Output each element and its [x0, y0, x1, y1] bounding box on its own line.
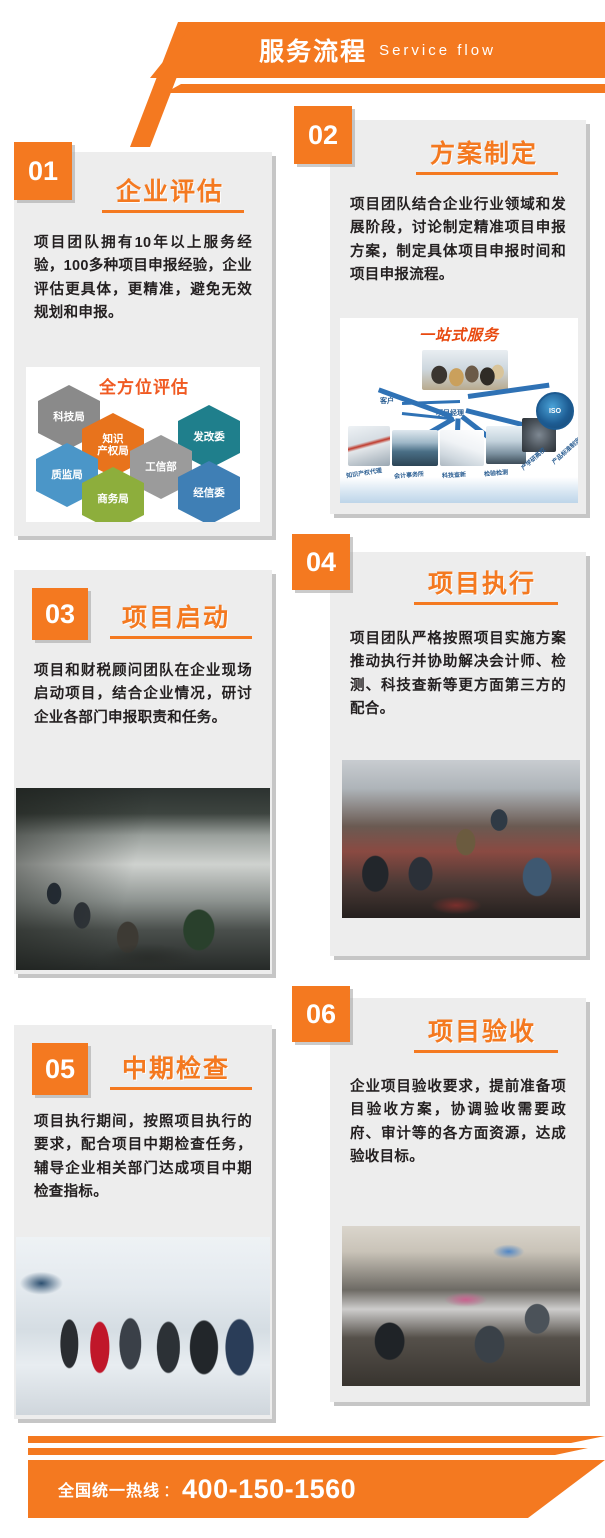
- title-underline: [414, 1050, 558, 1053]
- photo-acceptance-meeting: [342, 1226, 580, 1386]
- iso-seal-icon: ISO: [536, 392, 574, 430]
- step-description: 项目和财税顾问团队在企业现场启动项目，结合企业情况，研讨企业各部门申报职责和任务…: [34, 660, 252, 730]
- step-title: 项目执行: [394, 564, 570, 600]
- title-underline: [416, 172, 558, 175]
- footer-stripe-second: [28, 1448, 605, 1455]
- title-underline: [414, 602, 558, 605]
- step-description: 项目团队拥有10年以上服务经验，100多种项目申报经验，企业评估更具体，更精准，…: [34, 232, 252, 326]
- photo-tech-search: [440, 430, 484, 466]
- photo-accounting-office: [392, 430, 438, 466]
- step-number-badge: 01: [14, 142, 72, 200]
- hotline-phone[interactable]: 400-150-1560: [182, 1474, 356, 1505]
- step-title: 项目验收: [394, 1012, 570, 1048]
- step-card-02[interactable]: 02 方案制定 项目团队结合企业行业领域和发展阶段，讨论制定精准项目申报方案，制…: [330, 120, 592, 520]
- photo-working-session: [342, 760, 580, 918]
- one-stop-service-diagram: 一站式服务 客户 项目经理 ISO 知识产权代理 会计事务所 科技查新 检验检测…: [340, 318, 578, 503]
- title-underline: [110, 1087, 252, 1090]
- step-number-badge: 05: [32, 1043, 88, 1095]
- photo-site-inspection: [16, 1237, 270, 1415]
- hotline-label: 全国统一热线: [58, 1477, 160, 1501]
- page-header: 服务流程 Service flow: [0, 0, 605, 110]
- page-footer: 全国统一热线 ： 400-150-1560: [0, 1418, 605, 1538]
- one-stop-service-title: 一站式服务: [340, 324, 578, 345]
- photo-conference-room-kickoff: [16, 788, 270, 970]
- step-title: 中期检查: [90, 1049, 262, 1085]
- hexagon-chart: 全方位评估 科技局 知识产权局 发改委 质监局 工信部 商务局 经信委: [26, 367, 260, 522]
- step-number-badge: 04: [292, 534, 350, 590]
- step-card-01[interactable]: 01 企业评估 项目团队拥有10年以上服务经验，100多种项目申报经验，企业评估…: [14, 152, 278, 542]
- step-description: 企业项目验收要求，提前准备项目验收方案，协调验收需要政府、审计等的各方面资源，达…: [350, 1076, 566, 1170]
- step-card-06[interactable]: 06 项目验收 企业项目验收要求，提前准备项目验收方案，协调验收需要政府、审计等…: [330, 998, 592, 1408]
- photo-inspection-lab: [486, 426, 526, 464]
- step-number-badge: 03: [32, 588, 88, 640]
- step-card-05[interactable]: 05 中期检查 项目执行期间，按照项目执行的要求，配合项目中期检查任务，辅导企业…: [14, 1025, 278, 1425]
- step-number-badge: 02: [294, 106, 352, 164]
- header-stripe-decoration: [165, 84, 605, 93]
- step-title: 方案制定: [396, 134, 572, 170]
- branch-label-2: 科技查新: [442, 469, 466, 479]
- footer-hotline-group: 全国统一热线 ： 400-150-1560: [58, 1460, 356, 1518]
- step-card-04[interactable]: 04 项目执行 项目团队严格按照项目实施方案推动执行并协助解决会计师、检测、科技…: [330, 552, 592, 962]
- step-title: 项目启动: [90, 598, 262, 634]
- title-underline: [110, 636, 252, 639]
- title-underline: [102, 210, 244, 213]
- header-title-group: 服务流程 Service flow: [150, 22, 605, 78]
- photo-ip-documents: [348, 426, 390, 466]
- hotline-colon: ：: [163, 1477, 179, 1501]
- step-title: 企业评估: [82, 172, 258, 208]
- step-description: 项目团队结合企业行业领域和发展阶段，讨论制定精准项目申报方案，制定具体项目申报时…: [350, 194, 566, 288]
- step-description: 项目团队严格按照项目实施方案推动执行并协助解决会计师、检测、科技查新等更方面第三…: [350, 628, 566, 722]
- footer-stripe-top: [28, 1436, 605, 1443]
- step-number-badge: 06: [292, 986, 350, 1042]
- page-title-en: Service flow: [379, 42, 496, 59]
- page-title-cn: 服务流程: [259, 32, 367, 68]
- step-card-03[interactable]: 03 项目启动 项目和财税顾问团队在企业现场启动项目，结合企业情况，研讨企业各部…: [14, 570, 278, 980]
- step-description: 项目执行期间，按照项目执行的要求，配合项目中期检查任务，辅导企业相关部门达成项目…: [34, 1111, 252, 1205]
- photo-team-meeting-top: [422, 350, 508, 390]
- diagram-baseline: [340, 477, 578, 503]
